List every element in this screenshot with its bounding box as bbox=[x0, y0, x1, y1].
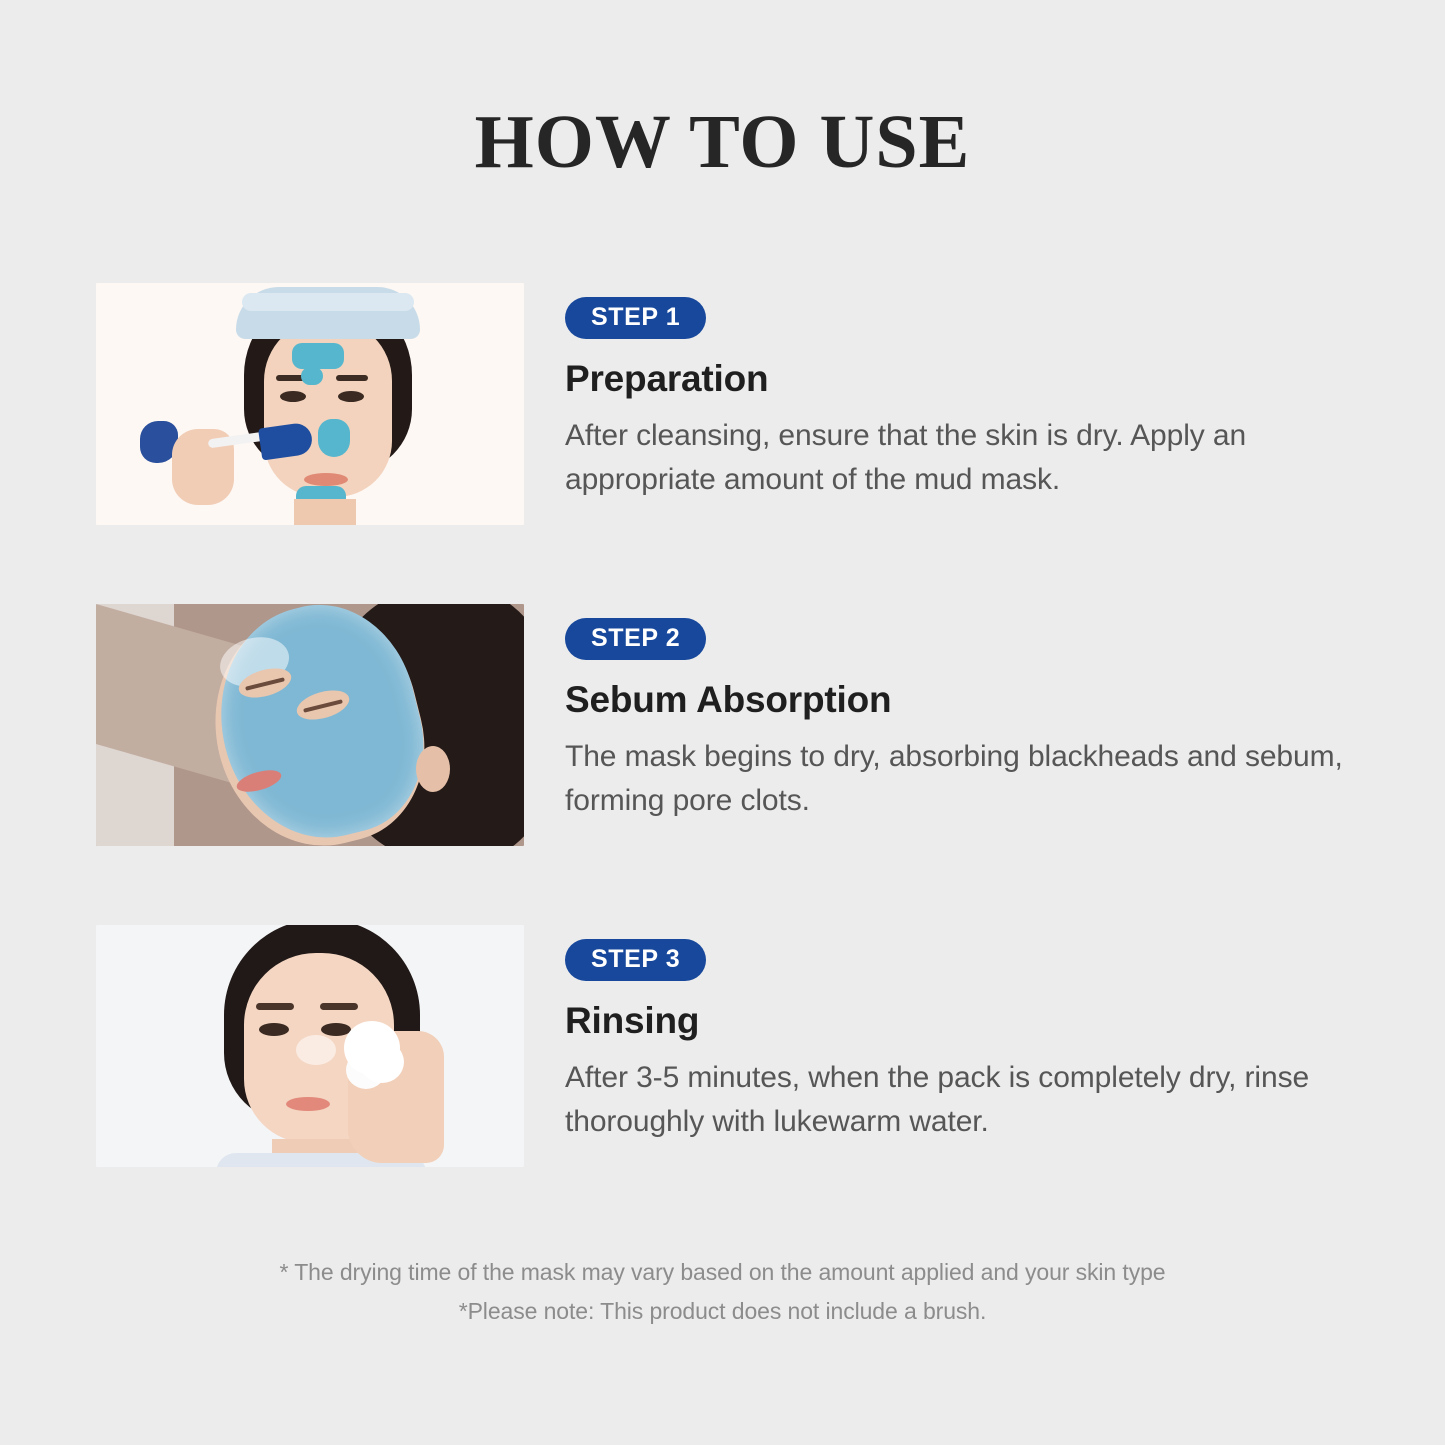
cleansing-foam-shape bbox=[344, 1021, 400, 1075]
step-3-heading: Rinsing bbox=[565, 1000, 1375, 1043]
eye-left-shape bbox=[259, 1023, 289, 1036]
footnote-no-brush: *Please note: This product does not incl… bbox=[0, 1292, 1445, 1331]
step-item-1: STEP 1 Preparation After cleansing, ensu… bbox=[0, 283, 1445, 604]
page-title: HOW TO USE bbox=[0, 104, 1445, 180]
eye-left-shape bbox=[280, 391, 306, 402]
step-3-photo bbox=[96, 925, 524, 1167]
photo-rinsing-illustration bbox=[96, 925, 524, 1167]
step-2-heading: Sebum Absorption bbox=[565, 679, 1375, 722]
photo-sebum-absorption-illustration bbox=[96, 604, 524, 846]
step-item-3: STEP 3 Rinsing After 3-5 minutes, when t… bbox=[0, 925, 1445, 1246]
ear-shape bbox=[416, 746, 450, 792]
step-2-text-block: STEP 2 Sebum Absorption The mask begins … bbox=[565, 618, 1375, 823]
steps-list: STEP 1 Preparation After cleansing, ensu… bbox=[0, 283, 1445, 1246]
step-2-description: The mask begins to dry, absorbing blackh… bbox=[565, 735, 1375, 824]
mask-blob-forehead bbox=[292, 343, 344, 369]
step-1-description: After cleansing, ensure that the skin is… bbox=[565, 414, 1375, 503]
photo-preparation-illustration bbox=[96, 283, 524, 525]
spa-headband-shape bbox=[236, 287, 420, 339]
step-2-photo bbox=[96, 604, 524, 846]
step-3-text-block: STEP 3 Rinsing After 3-5 minutes, when t… bbox=[565, 939, 1375, 1144]
footnote-drying-time: * The drying time of the mask may vary b… bbox=[0, 1253, 1445, 1292]
step-1-photo bbox=[96, 283, 524, 525]
cheek-highlight-shape bbox=[296, 1035, 336, 1065]
footnotes: * The drying time of the mask may vary b… bbox=[0, 1253, 1445, 1330]
eyebrow-left-shape bbox=[256, 1003, 294, 1010]
step-1-badge: STEP 1 bbox=[565, 297, 706, 339]
neck-shape bbox=[294, 499, 356, 525]
eyebrow-right-shape bbox=[336, 375, 368, 381]
step-1-text-block: STEP 1 Preparation After cleansing, ensu… bbox=[565, 297, 1375, 502]
step-2-badge: STEP 2 bbox=[565, 618, 706, 660]
step-item-2: STEP 2 Sebum Absorption The mask begins … bbox=[0, 604, 1445, 925]
eyebrow-right-shape bbox=[320, 1003, 358, 1010]
step-1-heading: Preparation bbox=[565, 358, 1375, 401]
step-3-badge: STEP 3 bbox=[565, 939, 706, 981]
lips-shape bbox=[286, 1097, 330, 1111]
step-3-description: After 3-5 minutes, when the pack is comp… bbox=[565, 1056, 1375, 1145]
mask-blob-nose bbox=[318, 419, 350, 457]
mask-blob-glabella bbox=[301, 367, 323, 385]
lips-shape bbox=[304, 473, 348, 486]
how-to-use-page: HOW TO USE bbox=[0, 0, 1445, 1445]
eye-right-shape bbox=[338, 391, 364, 402]
